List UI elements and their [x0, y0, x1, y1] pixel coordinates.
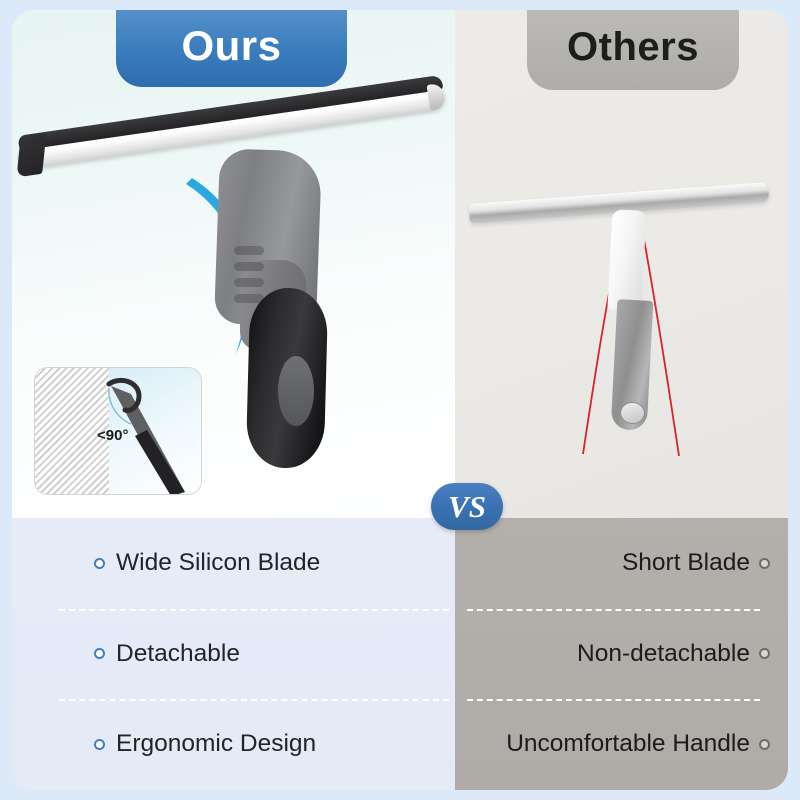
list-item[interactable]: Detachable	[12, 609, 455, 700]
circle-outline-icon	[759, 739, 770, 750]
others-badge: Others	[527, 10, 739, 90]
list-item[interactable]: Ergonomic Design	[12, 699, 455, 790]
ours-blade-tip	[426, 83, 446, 111]
ours-panel: Ours	[12, 10, 455, 790]
ours-blade-end-cap	[16, 133, 46, 178]
list-item[interactable]: Wide Silicon Blade	[12, 518, 455, 609]
feature-label: Ergonomic Design	[116, 730, 316, 758]
grip-ridge	[234, 246, 264, 255]
list-item[interactable]: Non-detachable	[455, 609, 788, 700]
grip-ridge	[234, 278, 264, 287]
others-panel: Others Short Blade Non-detachable Uncomf…	[455, 10, 788, 790]
ours-handle-hang-hole	[278, 356, 314, 426]
circle-outline-icon	[759, 648, 770, 659]
feature-label: Uncomfortable Handle	[506, 730, 750, 758]
inset-squeegee-illustration: <90°	[35, 368, 202, 495]
angle-label: <90°	[97, 427, 128, 444]
vs-badge: VS	[431, 483, 503, 530]
ours-feature-list: Wide Silicon Blade Detachable Ergonomic …	[12, 518, 455, 790]
feature-label: Short Blade	[622, 549, 750, 577]
feature-label: Non-detachable	[577, 640, 750, 668]
others-shaft-upper	[607, 209, 646, 311]
feature-label: Wide Silicon Blade	[116, 549, 320, 577]
circle-outline-icon	[759, 558, 770, 569]
feature-label: Detachable	[116, 640, 240, 668]
list-item[interactable]: Uncomfortable Handle	[455, 699, 788, 790]
grip-ridge	[234, 262, 264, 271]
ours-badge: Ours	[116, 10, 347, 87]
comparison-card: Ours	[12, 10, 788, 790]
circle-outline-icon	[94, 558, 105, 569]
circle-outline-icon	[94, 739, 105, 750]
list-item[interactable]: Short Blade	[455, 518, 788, 609]
circle-outline-icon	[94, 648, 105, 659]
angle-inset-diagram: <90°	[34, 367, 202, 495]
others-feature-list: Short Blade Non-detachable Uncomfortable…	[455, 518, 788, 790]
